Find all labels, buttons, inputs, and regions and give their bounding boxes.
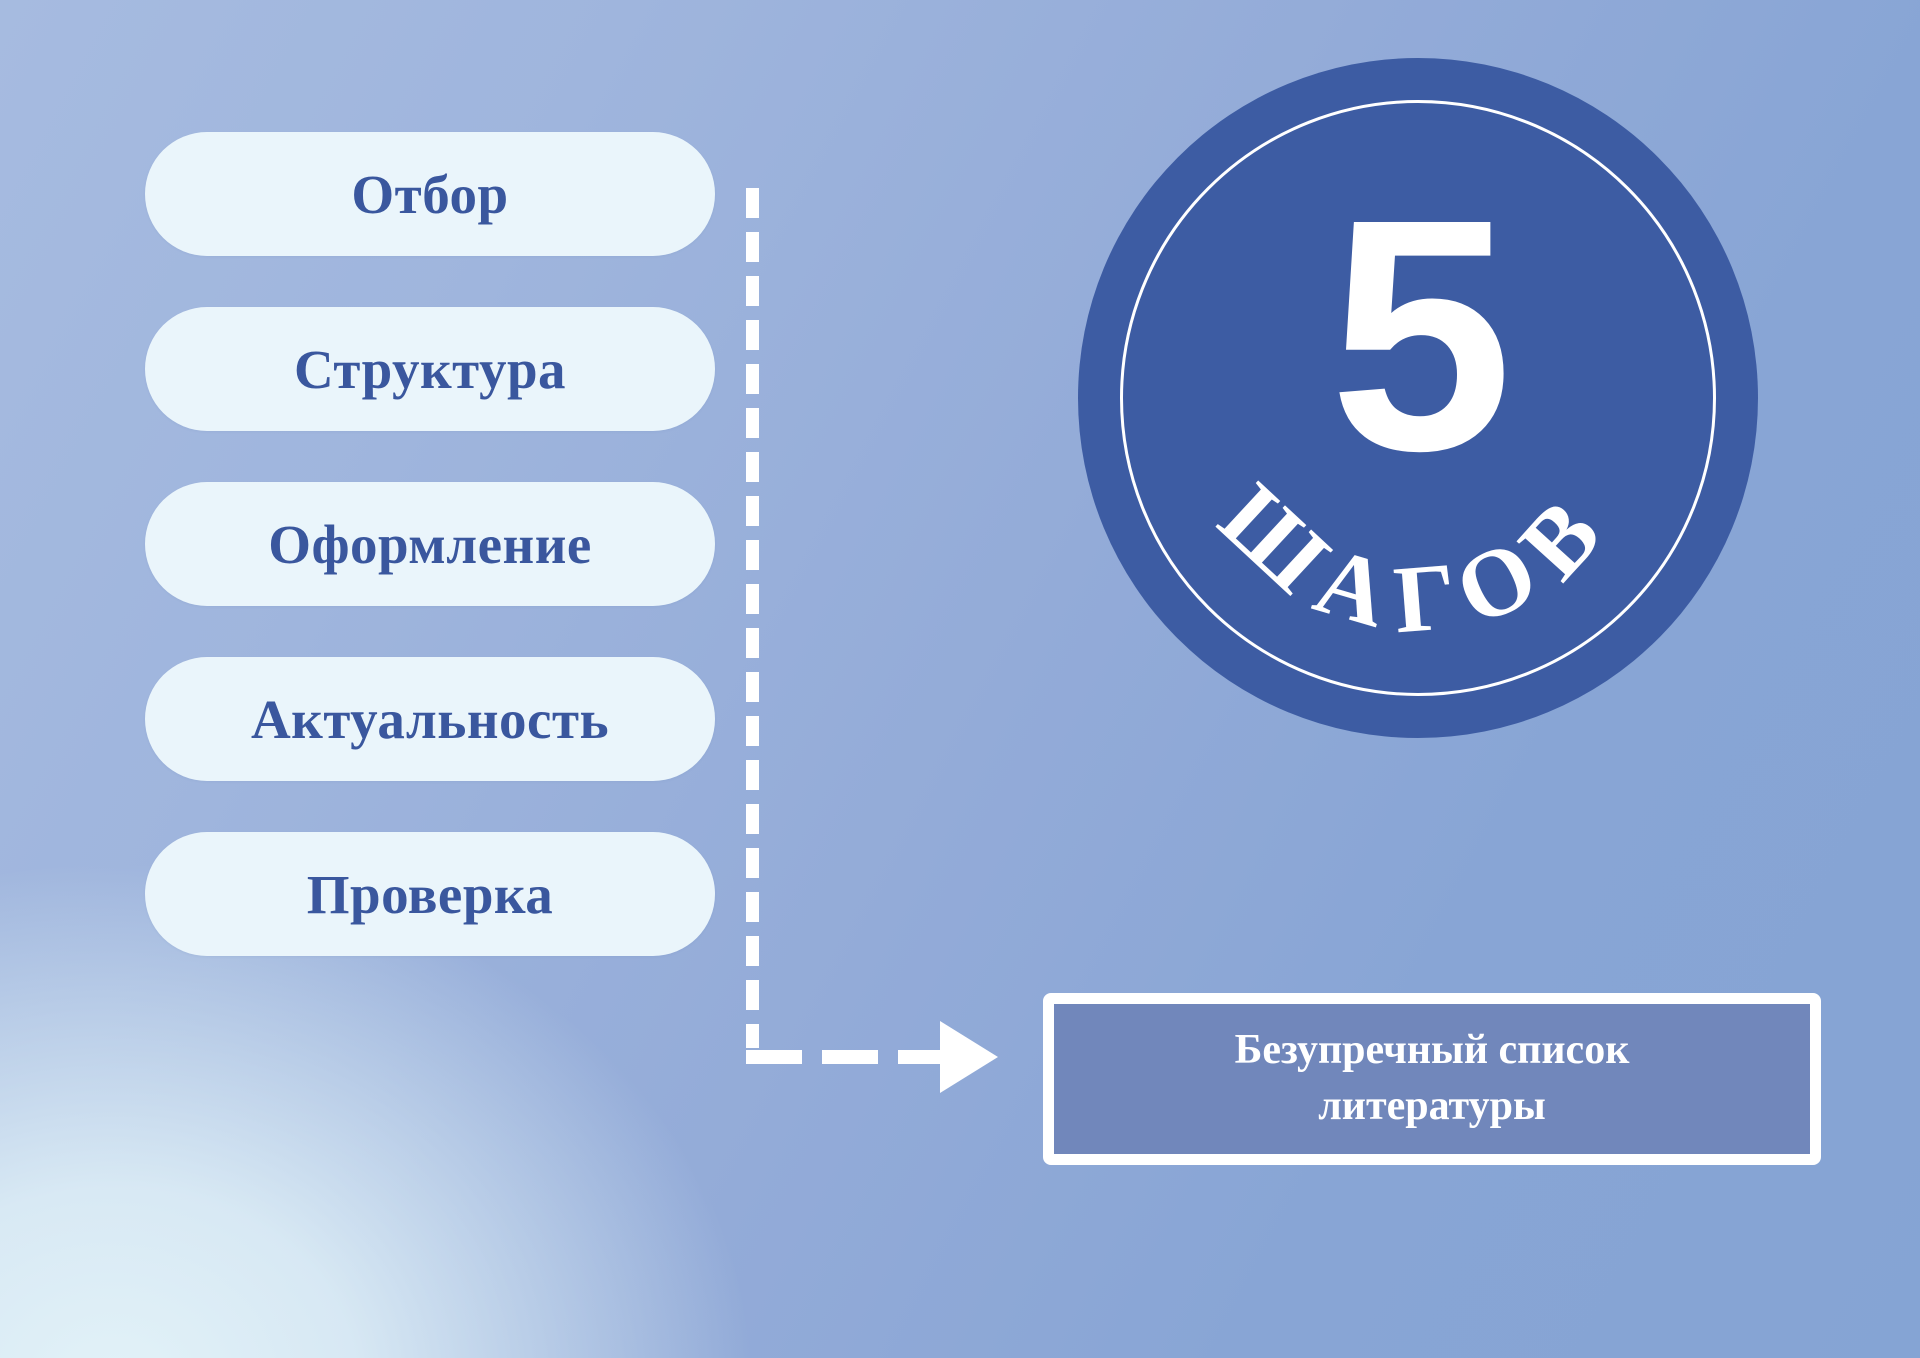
step-pill-oformlenie[interactable]: Оформление	[145, 482, 715, 606]
step-label: Структура	[294, 342, 566, 397]
step-pill-aktualnost[interactable]: Актуальность	[145, 657, 715, 781]
result-line-1: Безупречный список	[1235, 1027, 1630, 1073]
result-label: Безупречный список литературы	[1195, 1023, 1670, 1135]
step-label: Актуальность	[251, 692, 609, 747]
arrow-right-icon	[940, 1021, 998, 1093]
dashed-vertical-line-icon	[746, 188, 759, 1048]
step-label: Проверка	[307, 867, 554, 922]
infographic-canvas: Отбор Структура Оформление Актуальность …	[0, 0, 1920, 1358]
badge-arc-label: ШАГОВ	[1078, 58, 1758, 738]
steps-list: Отбор Структура Оформление Актуальность …	[145, 132, 715, 956]
result-line-2: литературы	[1318, 1083, 1546, 1129]
svg-text:ШАГОВ: ШАГОВ	[1200, 462, 1634, 653]
step-label: Отбор	[351, 167, 508, 222]
step-pill-struktura[interactable]: Структура	[145, 307, 715, 431]
step-pill-otbor[interactable]: Отбор	[145, 132, 715, 256]
step-pill-proverka[interactable]: Проверка	[145, 832, 715, 956]
badge-arc-text: ШАГОВ	[1200, 462, 1634, 653]
dashed-horizontal-line-icon	[746, 1050, 958, 1064]
step-label: Оформление	[268, 517, 592, 572]
steps-count-badge: 5 ШАГОВ	[1078, 58, 1758, 738]
result-box: Безупречный список литературы	[1043, 993, 1821, 1165]
